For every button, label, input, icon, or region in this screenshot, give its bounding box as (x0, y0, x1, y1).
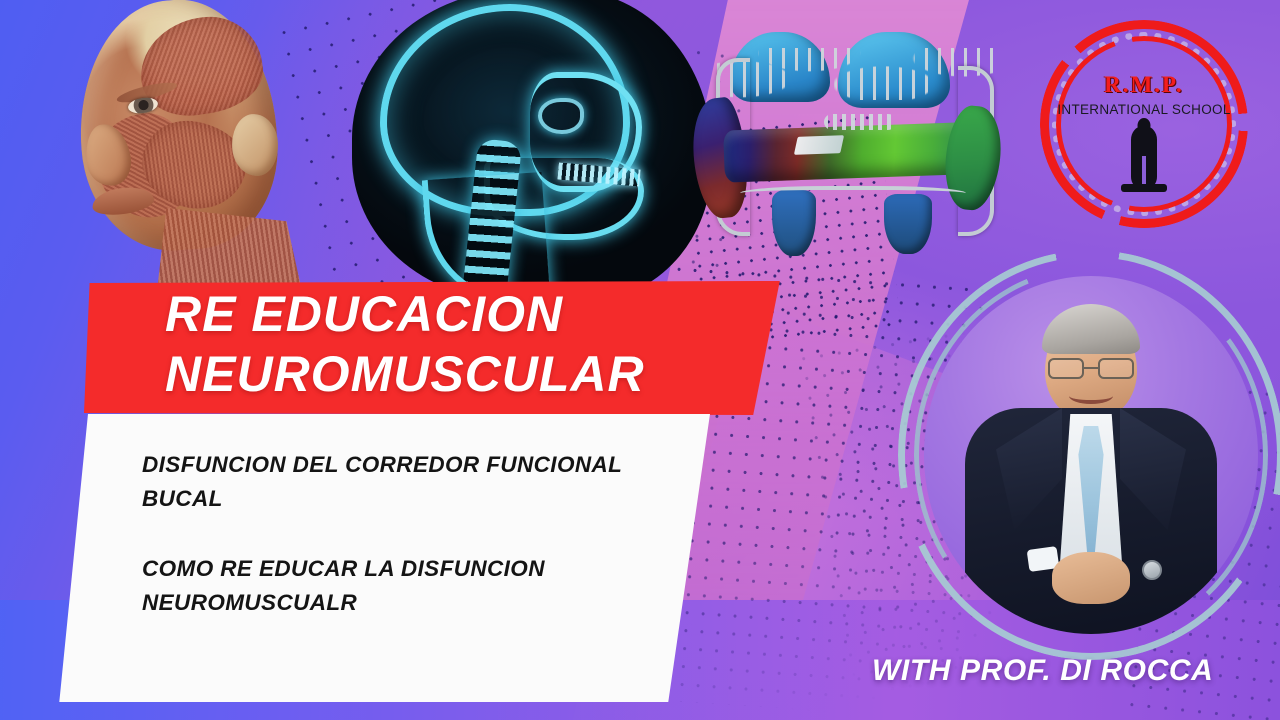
appliance-acrylic-plate-right (838, 32, 950, 108)
orthodontic-functional-appliance-image (690, 14, 1020, 264)
appliance-lower-wire (740, 186, 966, 204)
rmp-school-logo: R.M.P. INTERNATIONAL SCHOOL (1036, 16, 1252, 232)
xray-skull-lateral-image (352, 0, 712, 300)
title-line-1: RE EDUCACION (165, 287, 785, 341)
facial-muscle-anatomy-image (36, 0, 336, 294)
xray-sinus-cavity (538, 98, 584, 134)
video-thumbnail: R.M.P. INTERNATIONAL SCHOOL (0, 0, 1280, 720)
subtitle-text-secondary: COMO RE EDUCAR LA DISFUNCION NEUROMUSCUA… (142, 552, 662, 620)
logo-school-name: INTERNATIONAL SCHOOL (1036, 102, 1252, 117)
human-figure-icon-legs-gap (1142, 156, 1146, 186)
title-line-2: NEUROMUSCULAR (165, 347, 785, 401)
human-figure-icon-base (1121, 184, 1167, 192)
appliance-spring (824, 114, 896, 130)
appliance-expansion-screw (794, 135, 844, 155)
subtitle-text-primary: DISFUNCION DEL CORREDOR FUNCIONAL BUCAL (142, 448, 662, 516)
portrait-ring-outer-arc (898, 250, 1280, 660)
logo-acronym: R.M.P. (1036, 72, 1252, 98)
xray-neck-outline (422, 172, 551, 300)
page-title: RE EDUCACION NEUROMUSCULAR (165, 287, 785, 401)
presenter-portrait-image (898, 250, 1280, 660)
presenter-credit: WITH PROF. DI ROCCA (872, 654, 1213, 688)
